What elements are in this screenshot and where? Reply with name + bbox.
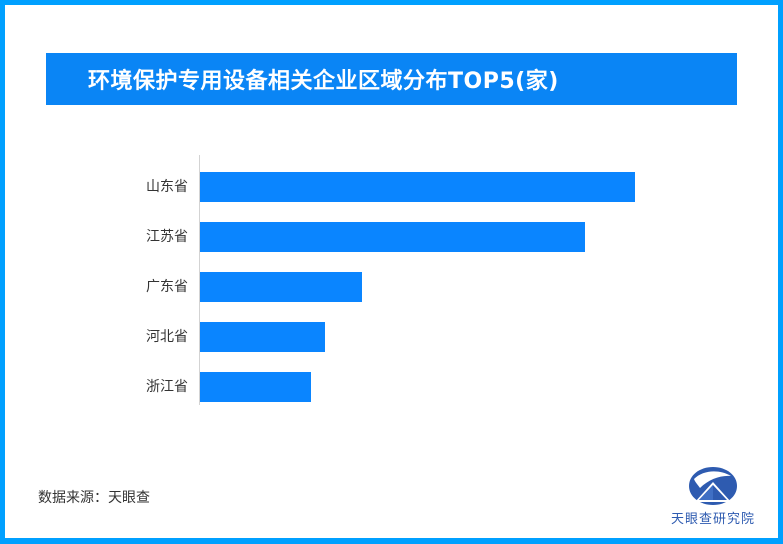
title-banner: 环境保护专用设备相关企业区域分布TOP5(家) (46, 53, 737, 105)
category-label: 广东省 (146, 272, 188, 302)
bar-row-list: 山东省江苏省广东省河北省浙江省 (0, 150, 783, 405)
bar-row: 浙江省 (0, 372, 783, 402)
brand-logo-text: 天眼查研究院 (671, 508, 755, 527)
category-label: 山东省 (146, 172, 188, 202)
bar-row: 河北省 (0, 322, 783, 352)
tianyancha-eye-logo-icon (687, 466, 739, 506)
bar-浙江省[interactable] (200, 372, 311, 402)
category-label: 河北省 (146, 322, 188, 352)
bar-chart: 山东省江苏省广东省河北省浙江省 (0, 150, 783, 405)
bar-row: 山东省 (0, 172, 783, 202)
bar-广东省[interactable] (200, 272, 362, 302)
bar-山东省[interactable] (200, 172, 635, 202)
bar-row: 广东省 (0, 272, 783, 302)
bar-河北省[interactable] (200, 322, 325, 352)
bar-江苏省[interactable] (200, 222, 585, 252)
category-label: 江苏省 (146, 222, 188, 252)
frame-border-bottom (0, 538, 783, 544)
frame-border-top (0, 0, 783, 5)
brand-logo: 天眼查研究院 (653, 466, 773, 532)
data-source-note: 数据来源：天眼查 (38, 487, 150, 507)
bar-row: 江苏省 (0, 222, 783, 252)
category-label: 浙江省 (146, 372, 188, 402)
page-title: 环境保护专用设备相关企业区域分布TOP5(家) (46, 63, 559, 95)
infographic-canvas: 环境保护专用设备相关企业区域分布TOP5(家) 山东省江苏省广东省河北省浙江省 … (0, 0, 783, 544)
